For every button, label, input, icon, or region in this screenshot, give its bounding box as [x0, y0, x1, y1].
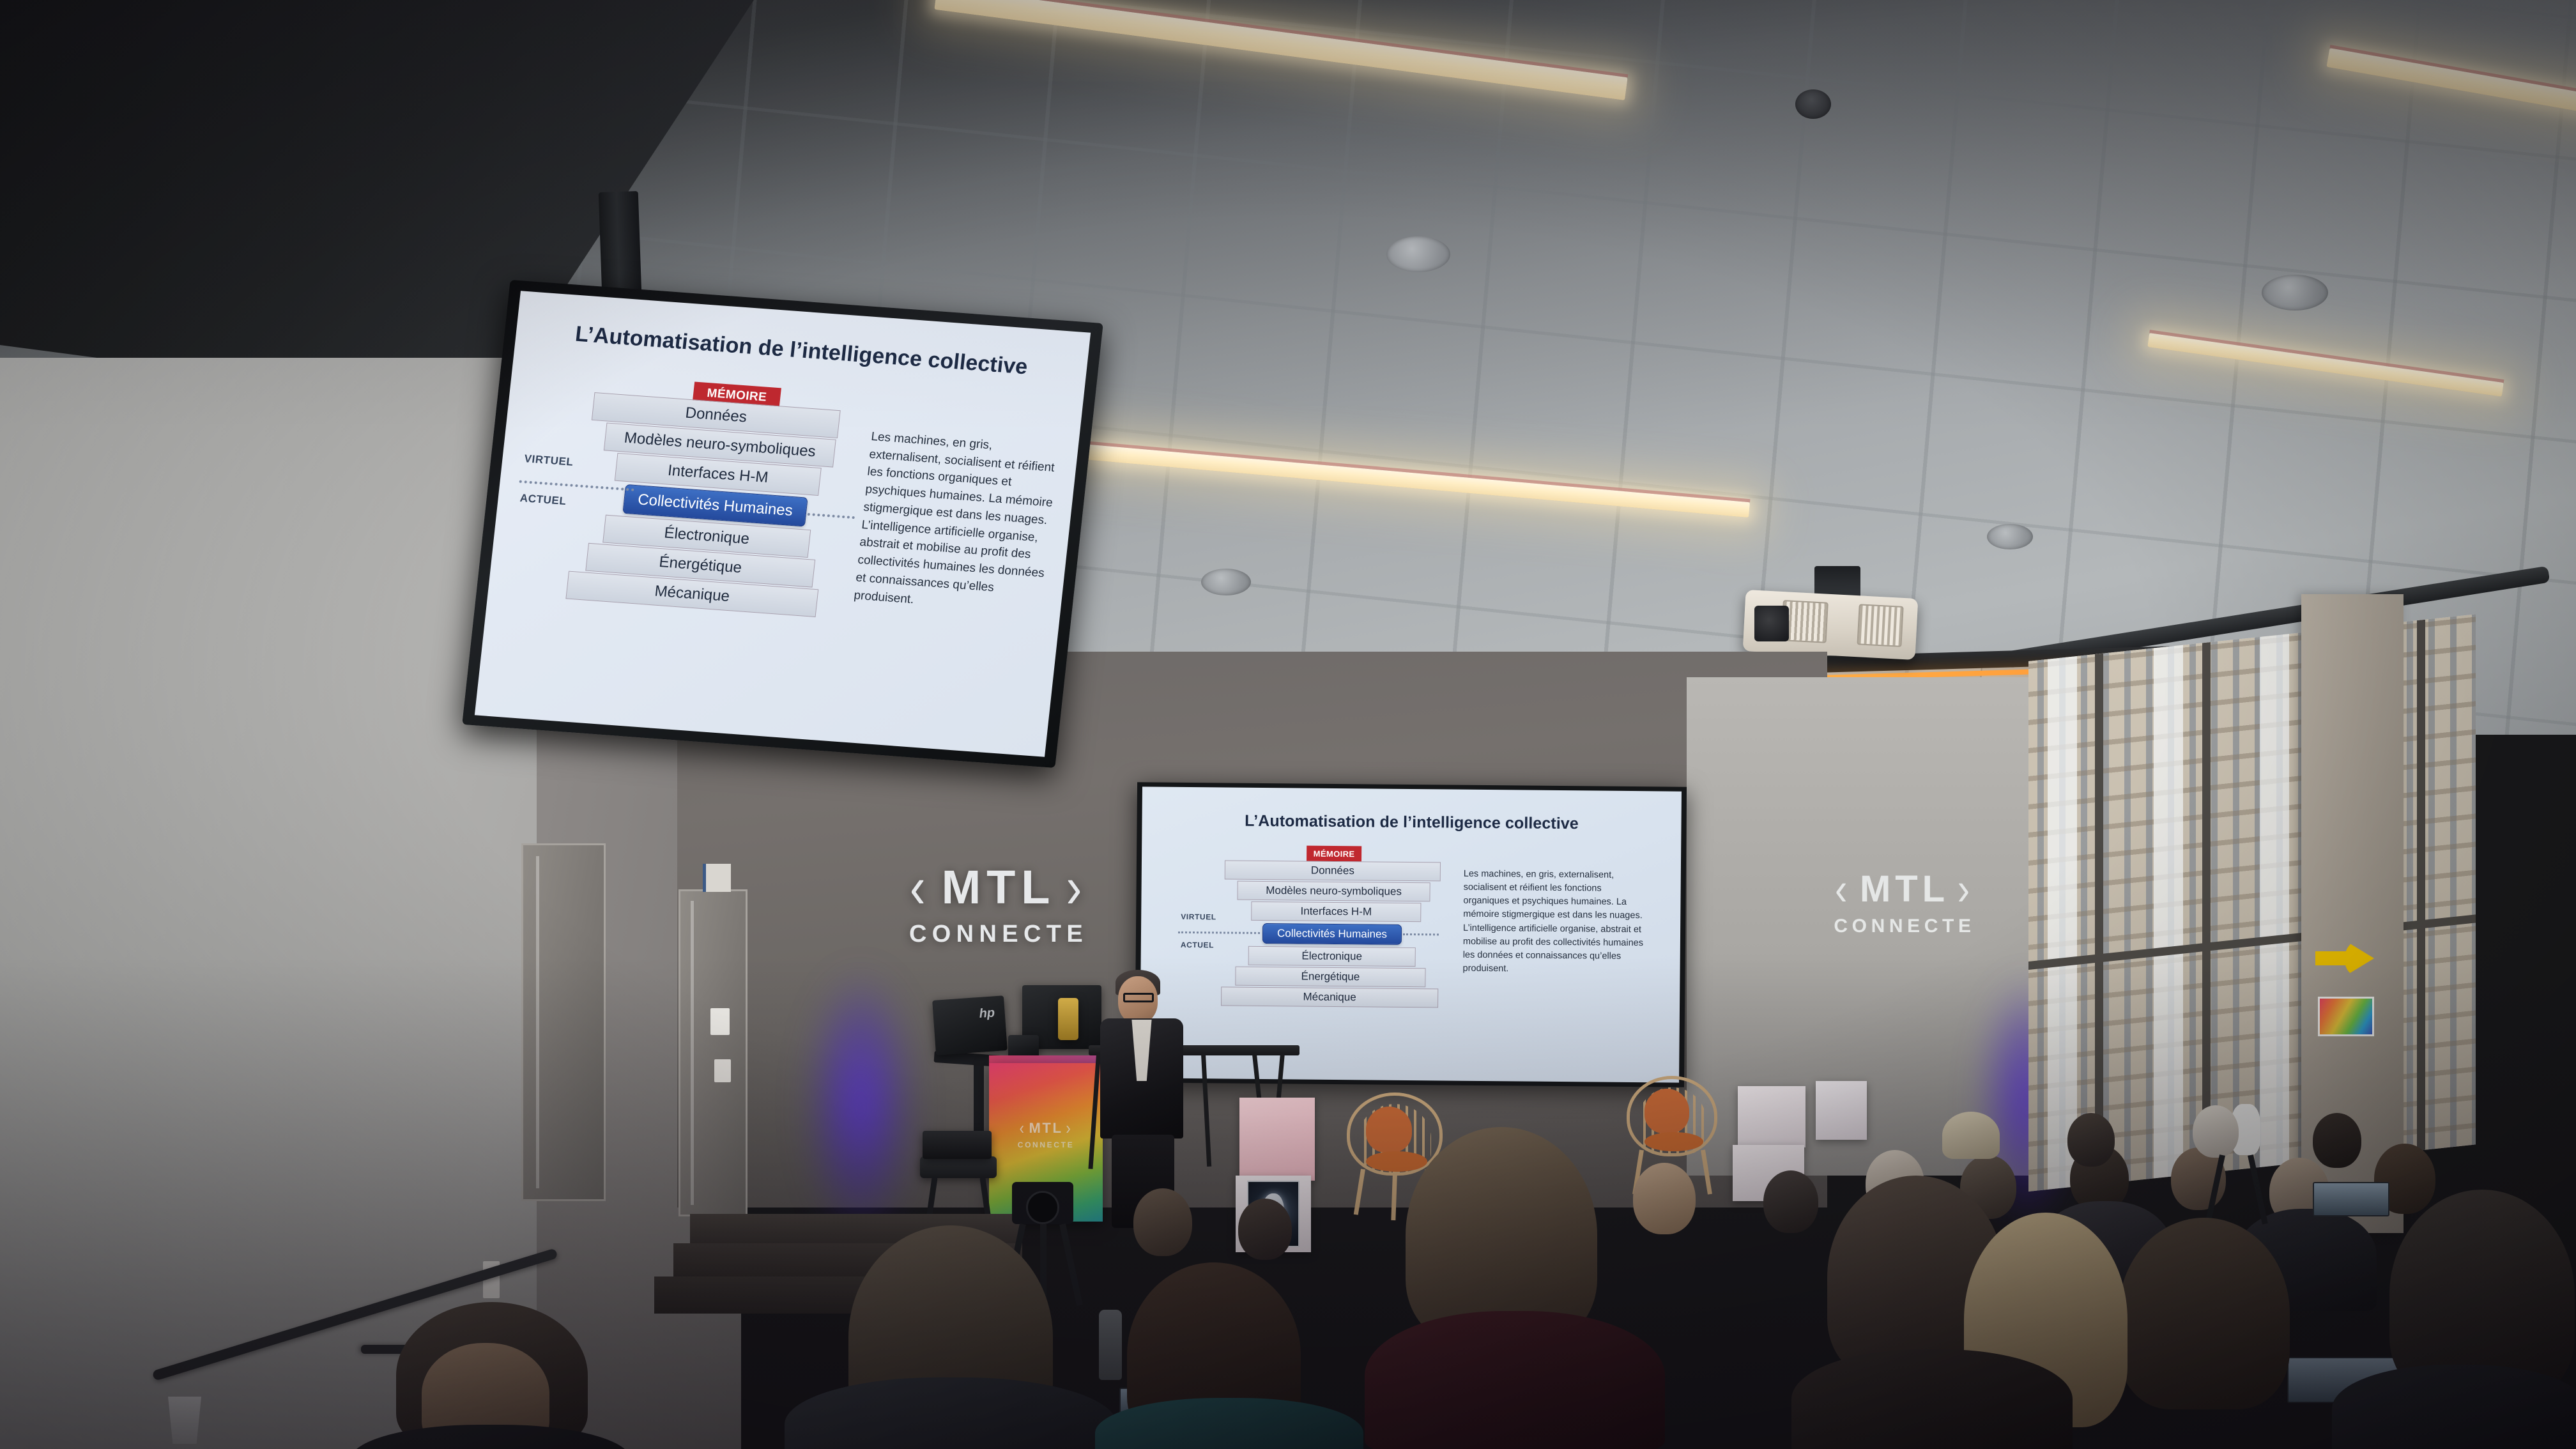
equipment-stool	[920, 1156, 997, 1178]
chair-leg-3	[1391, 1172, 1397, 1220]
podium-audio-device	[1058, 998, 1078, 1040]
window-mullion-1	[2095, 654, 2103, 1184]
layer-bar-electronique: Électronique	[1248, 946, 1416, 967]
highlight-connector-right	[808, 513, 855, 519]
attendee-laptop-1[interactable]	[2313, 1182, 2389, 1216]
chair-back-cushion	[1644, 1089, 1689, 1133]
ceiling-speaker-1	[1386, 236, 1450, 272]
bracket-left-icon: ‹	[1835, 862, 1851, 916]
hp-logo-icon: hp	[979, 1006, 995, 1022]
audience-head	[2067, 1113, 2115, 1167]
hp-confidence-monitor: hp	[932, 995, 1008, 1055]
presenter-person	[1095, 970, 1191, 1225]
audience-head-with-cap	[1942, 1112, 2000, 1159]
layer-bar-donnees: Données	[1225, 860, 1441, 881]
monitor-arm-post	[974, 1059, 984, 1136]
virtuel-actuel-divider	[1178, 931, 1260, 934]
light-switch-panel[interactable]	[714, 1059, 731, 1082]
projection-screen-surface: L’Automatisation de l’intelligence colle…	[1140, 786, 1682, 1082]
podium-mtl-logo: ‹ MTL › CONNECTE	[989, 1120, 1103, 1149]
audience-shoulders-foreground	[1791, 1349, 2073, 1449]
wayfinding-arrow-icon	[2315, 940, 2374, 976]
audience-head	[1763, 1170, 1818, 1233]
axis-label-virtuel: VIRTUEL	[524, 452, 574, 469]
tv-bezel: L’Automatisation de l’intelligence colle…	[462, 280, 1103, 768]
slide-paragraph: Les machines, en gris, externalisent, so…	[853, 428, 1063, 618]
bracket-right-icon: ›	[1066, 853, 1088, 921]
door-left[interactable]	[521, 843, 606, 1201]
projection-screen-frame: L’Automatisation de l’intelligence colle…	[1135, 782, 1687, 1087]
window-mullion-2	[2202, 642, 2211, 1173]
room-info-plaque	[710, 1008, 730, 1035]
tripod-leg-2	[1059, 1223, 1083, 1306]
axis-label-virtuel: VIRTUEL	[1181, 912, 1216, 921]
audience-head	[1238, 1199, 1292, 1260]
bracket-left-icon: ‹	[910, 853, 931, 921]
projector-lens	[1754, 606, 1789, 641]
slide-paragraph: Les machines, en gris, externalisent, so…	[1462, 868, 1648, 977]
memoire-badge: MÉMOIRE	[1307, 846, 1361, 862]
slide-tv: L’Automatisation de l’intelligence colle…	[475, 291, 1091, 757]
rainbow-wayfinding-sign	[2318, 997, 2374, 1036]
mtl-connecte-logo-right: ‹ MTL › CONNECTE	[1825, 868, 1984, 937]
door-right[interactable]	[678, 889, 747, 1216]
slide-title: L’Automatisation de l’intelligence colle…	[515, 318, 1087, 384]
tv-screen: L’Automatisation de l’intelligence colle…	[475, 291, 1091, 757]
window-frosted-strip-1	[2048, 656, 2077, 1190]
ceiling-speaker-3	[1201, 569, 1251, 595]
chair-leg-1	[1354, 1169, 1365, 1215]
tripod-leg-2	[2248, 1154, 2268, 1224]
axis-label-actuel: ACTUEL	[1181, 940, 1214, 949]
conference-room-photo: ‹ MTL › CONNECTE ‹ MTL › CONNECTE	[0, 0, 2576, 1449]
audience-shoulders-foreground	[785, 1377, 1117, 1449]
projection-screen: L’Automatisation de l’intelligence colle…	[1135, 782, 1687, 1087]
bracket-right-icon: ›	[1958, 862, 1974, 916]
tripod-leg-1	[2205, 1154, 2225, 1224]
mtl-connecte-logo-stage: ‹ MTL › CONNECTE	[900, 860, 1098, 948]
mtl-wordmark: MTL	[942, 860, 1056, 914]
mtl-subtitle: CONNECTE	[1825, 916, 1984, 937]
window-frosted-strip-2	[2154, 645, 2183, 1179]
axis-label-actuel: ACTUEL	[519, 492, 567, 508]
chair-leg-2	[1701, 1149, 1712, 1194]
wall-mounted-tv: L’Automatisation de l’intelligence colle…	[462, 280, 1103, 768]
slide-title: L’Automatisation de l’intelligence colle…	[1142, 811, 1681, 834]
window-frosted-strip-3	[2260, 634, 2289, 1167]
exit-sign	[703, 864, 731, 892]
display-pedestal-far-right	[1816, 1081, 1867, 1140]
layer-bar-modeles: Modèles neuro-symboliques	[1237, 881, 1430, 902]
audience-shoulders-foreground	[2332, 1365, 2576, 1449]
highlight-connector-right	[1403, 933, 1439, 935]
virtuel-actuel-divider	[519, 480, 634, 491]
mtl-subtitle: CONNECTE	[900, 921, 1098, 948]
chair-seat-cushion	[1366, 1151, 1427, 1172]
presenter-glasses	[1123, 993, 1154, 1002]
mtl-subtitle: CONNECTE	[989, 1140, 1103, 1149]
audience-head	[1133, 1188, 1192, 1256]
layer-bar-collectivites-humaines: Collectivités Humaines	[1262, 923, 1402, 945]
mtl-wordmark: MTL	[1860, 868, 1949, 910]
ceiling-speaker-2	[2262, 275, 2328, 310]
window-camera-tripod	[2205, 1098, 2276, 1206]
slide-projected: L’Automatisation de l’intelligence colle…	[1140, 786, 1682, 1082]
projector-vent-right	[1857, 604, 1904, 647]
audio-mixer-rack	[923, 1131, 992, 1159]
audience-head	[1633, 1163, 1696, 1234]
audience-shoulders-foreground	[1365, 1311, 1665, 1449]
podium-control-box	[1008, 1035, 1039, 1058]
water-bottle	[1099, 1310, 1122, 1380]
bracket-left-icon: ‹	[1020, 1118, 1026, 1139]
bracket-right-icon: ›	[1066, 1118, 1072, 1139]
audience-head-foreground	[2119, 1218, 2290, 1409]
window-mullion-4	[2417, 620, 2425, 1151]
camera-lens-icon	[1026, 1191, 1059, 1224]
ceiling-camera-dome	[1795, 89, 1831, 119]
layer-bar-mecanique: Mécanique	[1221, 986, 1438, 1008]
layer-bar-interfaces: Interfaces H-M	[1251, 901, 1421, 922]
audience-head	[2313, 1113, 2361, 1168]
mtl-wordmark: MTL	[1029, 1120, 1062, 1137]
ceiling-speaker-4	[1987, 524, 2033, 549]
display-pedestal-right-top	[1738, 1086, 1805, 1147]
display-cube-top	[1239, 1098, 1315, 1181]
chair-seat-cushion	[1644, 1132, 1703, 1151]
layer-bar-energetique: Énergétique	[1235, 967, 1425, 988]
chair-back-cushion	[1366, 1107, 1412, 1153]
